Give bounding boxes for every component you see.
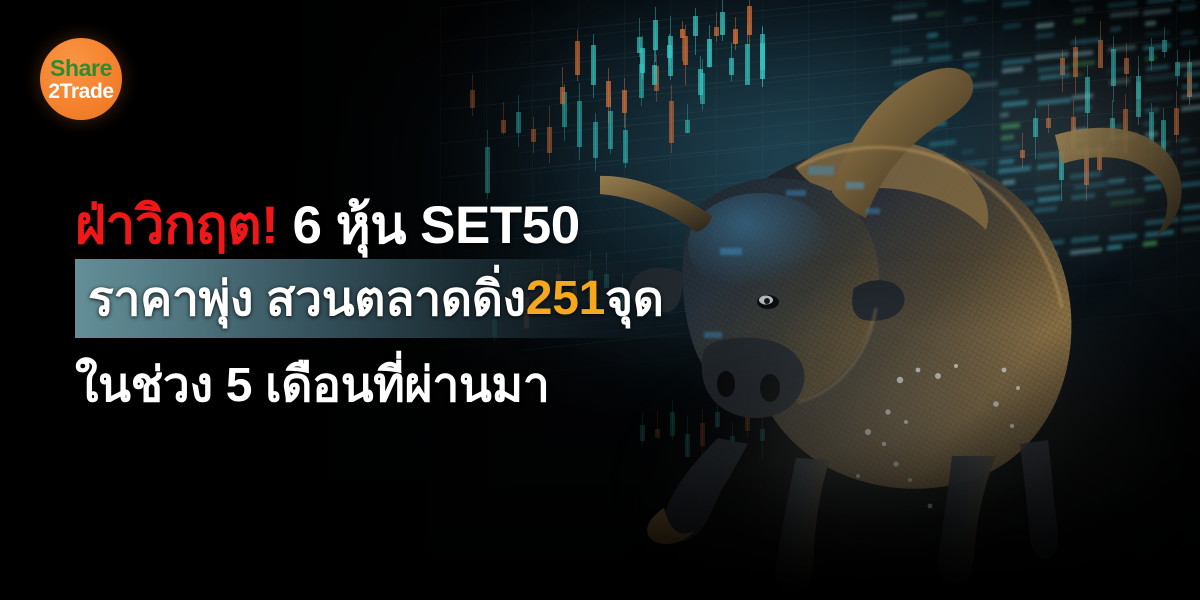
headline-points-unit: จุด <box>605 261 664 337</box>
headline-points-number: 251 <box>526 271 605 326</box>
headline-block: ฝ่าวิกฤต! 6 หุ้น SET50 ราคาพุ่ง สวนตลาดด… <box>0 196 1200 423</box>
headline-set50-text: 6 หุ้น SET50 <box>278 196 579 255</box>
share2trade-logo[interactable]: Share 2Trade <box>40 38 122 120</box>
headline-line-3: ในช่วง 5 เดือนที่ผ่านมา <box>0 347 1200 423</box>
headline-price-surge-text: ราคาพุ่ง สวนตลาดดิ่ง <box>88 261 526 337</box>
headline-crisis-emphasis: ฝ่าวิกฤต! <box>75 196 278 255</box>
logo-text-share: Share <box>50 57 112 80</box>
headline-line-1: ฝ่าวิกฤต! 6 หุ้น SET50 <box>0 196 1200 255</box>
headline-line-2-wrapper: ราคาพุ่ง สวนตลาดดิ่ง 251 จุด <box>0 259 1200 339</box>
news-banner: Share 2Trade ฝ่าวิกฤต! 6 หุ้น SET50 ราคา… <box>0 0 1200 600</box>
headline-line-2: ราคาพุ่ง สวนตลาดดิ่ง 251 จุด <box>0 259 1200 338</box>
logo-text-trade: 2Trade <box>48 81 113 102</box>
